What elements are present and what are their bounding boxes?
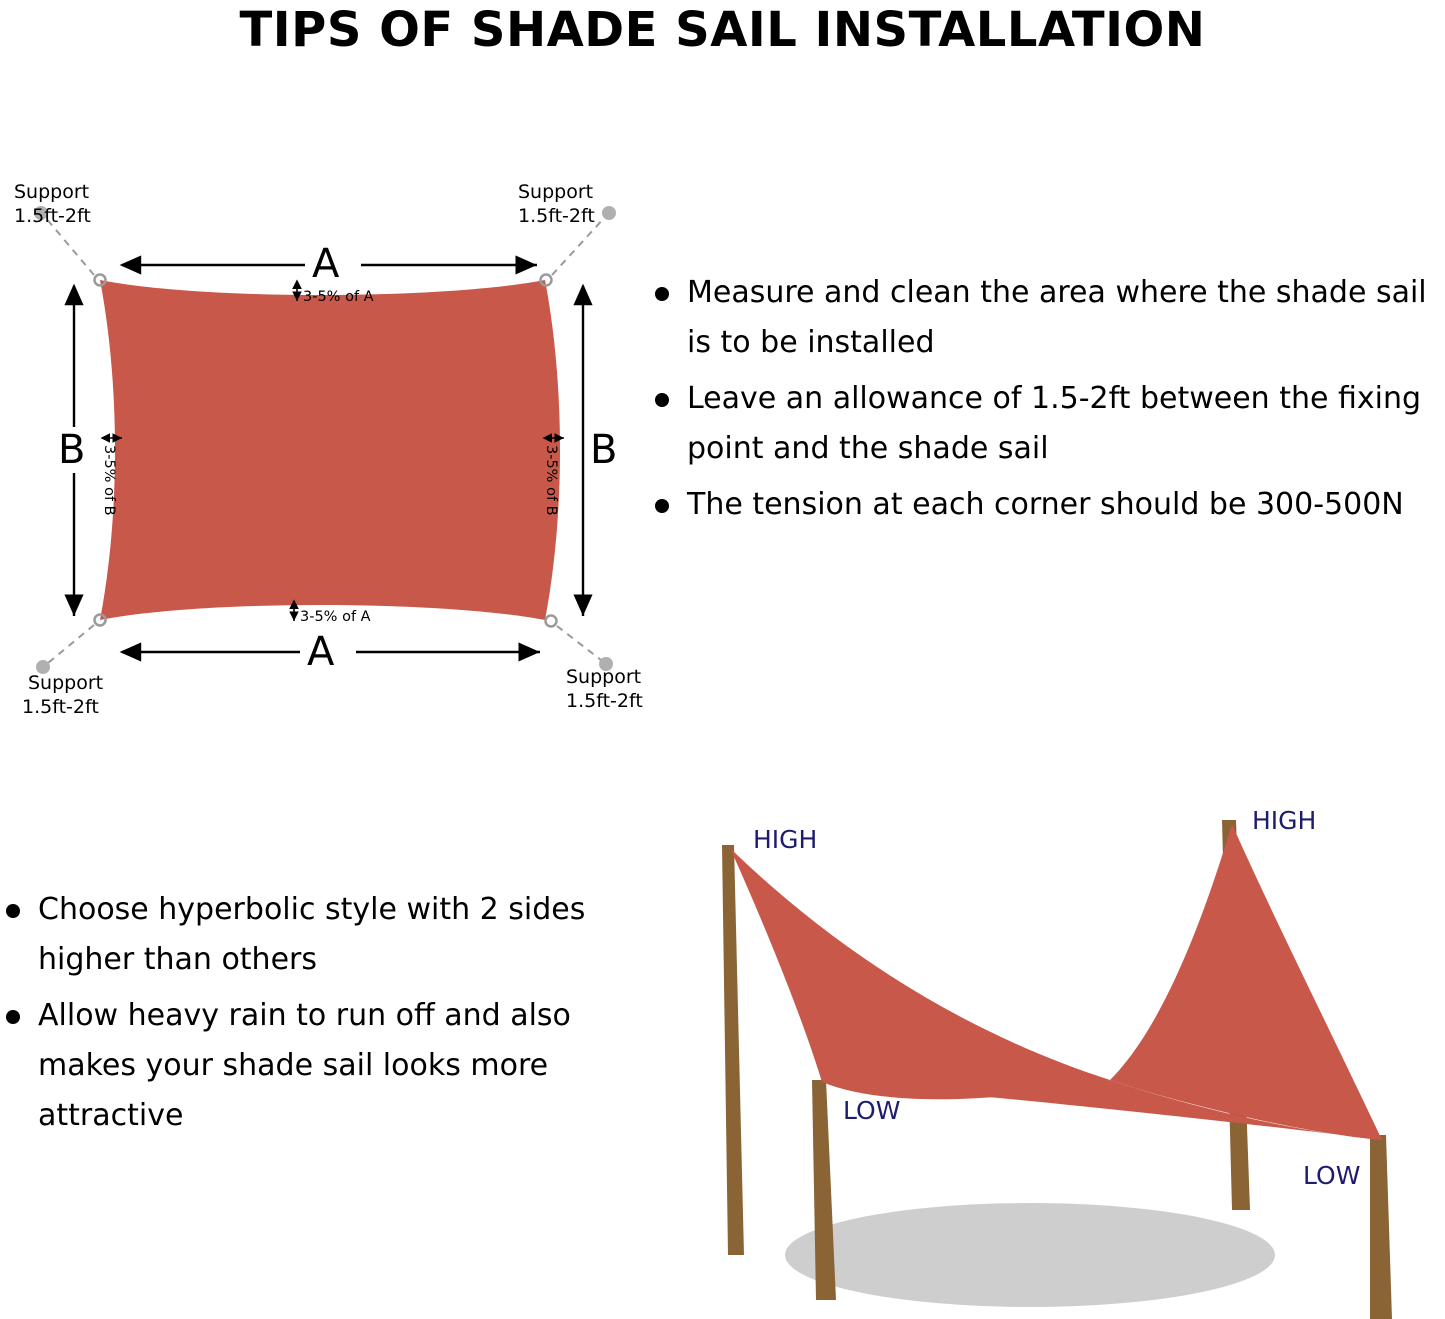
curve-label-right: 3-5% of B (543, 445, 559, 516)
list-item: Choose hyperbolic style with 2 sides hig… (0, 885, 620, 985)
pole-low-right (1370, 1135, 1392, 1319)
support-line-bottom-right (557, 626, 601, 660)
right-tips-list: Measure and clean the area where the sha… (645, 268, 1445, 536)
corner-ring-top-right (541, 275, 552, 286)
dimension-label-top-a: A (312, 241, 340, 287)
dimension-label-left-b: B (58, 427, 85, 473)
label-low-right: LOW (1303, 1161, 1360, 1190)
pole-high-left (722, 845, 744, 1255)
list-item: Leave an allowance of 1.5-2ft between th… (645, 374, 1445, 474)
support-dot-top-right (602, 206, 616, 220)
list-item: The tension at each corner should be 300… (645, 480, 1445, 530)
dimension-label-right-b: B (590, 427, 617, 473)
curve-label-top: 3-5% of A (303, 289, 374, 305)
sail-right-lobe (1110, 824, 1382, 1140)
support-label-top-right-line1: Support (518, 181, 593, 203)
corner-ring-bottom-right (546, 616, 557, 627)
list-item: Measure and clean the area where the sha… (645, 268, 1445, 368)
support-label-bottom-right-line2: 1.5ft-2ft (566, 690, 643, 712)
page-title: TIPS OF SHADE SAIL INSTALLATION (0, 2, 1445, 58)
support-label-top-left-line1: Support (14, 181, 89, 203)
support-label-top-left-line2: 1.5ft-2ft (14, 205, 91, 227)
pole-low-left (812, 1080, 836, 1300)
sail-shape (100, 280, 560, 620)
label-low-left: LOW (843, 1096, 900, 1125)
curve-label-left: 3-5% of B (101, 445, 117, 516)
ground-shadow (785, 1203, 1275, 1307)
curve-label-bottom: 3-5% of A (300, 609, 371, 625)
support-label-bottom-left-line1: Support (28, 672, 103, 694)
label-high-right: HIGH (1252, 806, 1316, 835)
support-line-bottom-left (48, 625, 94, 663)
list-item: Allow heavy rain to run off and also mak… (0, 991, 620, 1141)
left-tips-list: Choose hyperbolic style with 2 sides hig… (0, 885, 620, 1147)
support-label-top-right-line2: 1.5ft-2ft (518, 205, 595, 227)
sail-left-lobe (730, 848, 1110, 1099)
support-label-bottom-left-line2: 1.5ft-2ft (22, 696, 99, 718)
hyperbolic-sail-illustration: HIGH HIGH LOW LOW (640, 780, 1445, 1319)
dimension-label-bottom-a: A (307, 629, 335, 675)
shade-sail-dimension-diagram: Support 1.5ft-2ft Support 1.5ft-2ft Supp… (0, 155, 660, 730)
support-label-bottom-right-line1: Support (566, 666, 641, 688)
label-high-left: HIGH (753, 825, 817, 854)
